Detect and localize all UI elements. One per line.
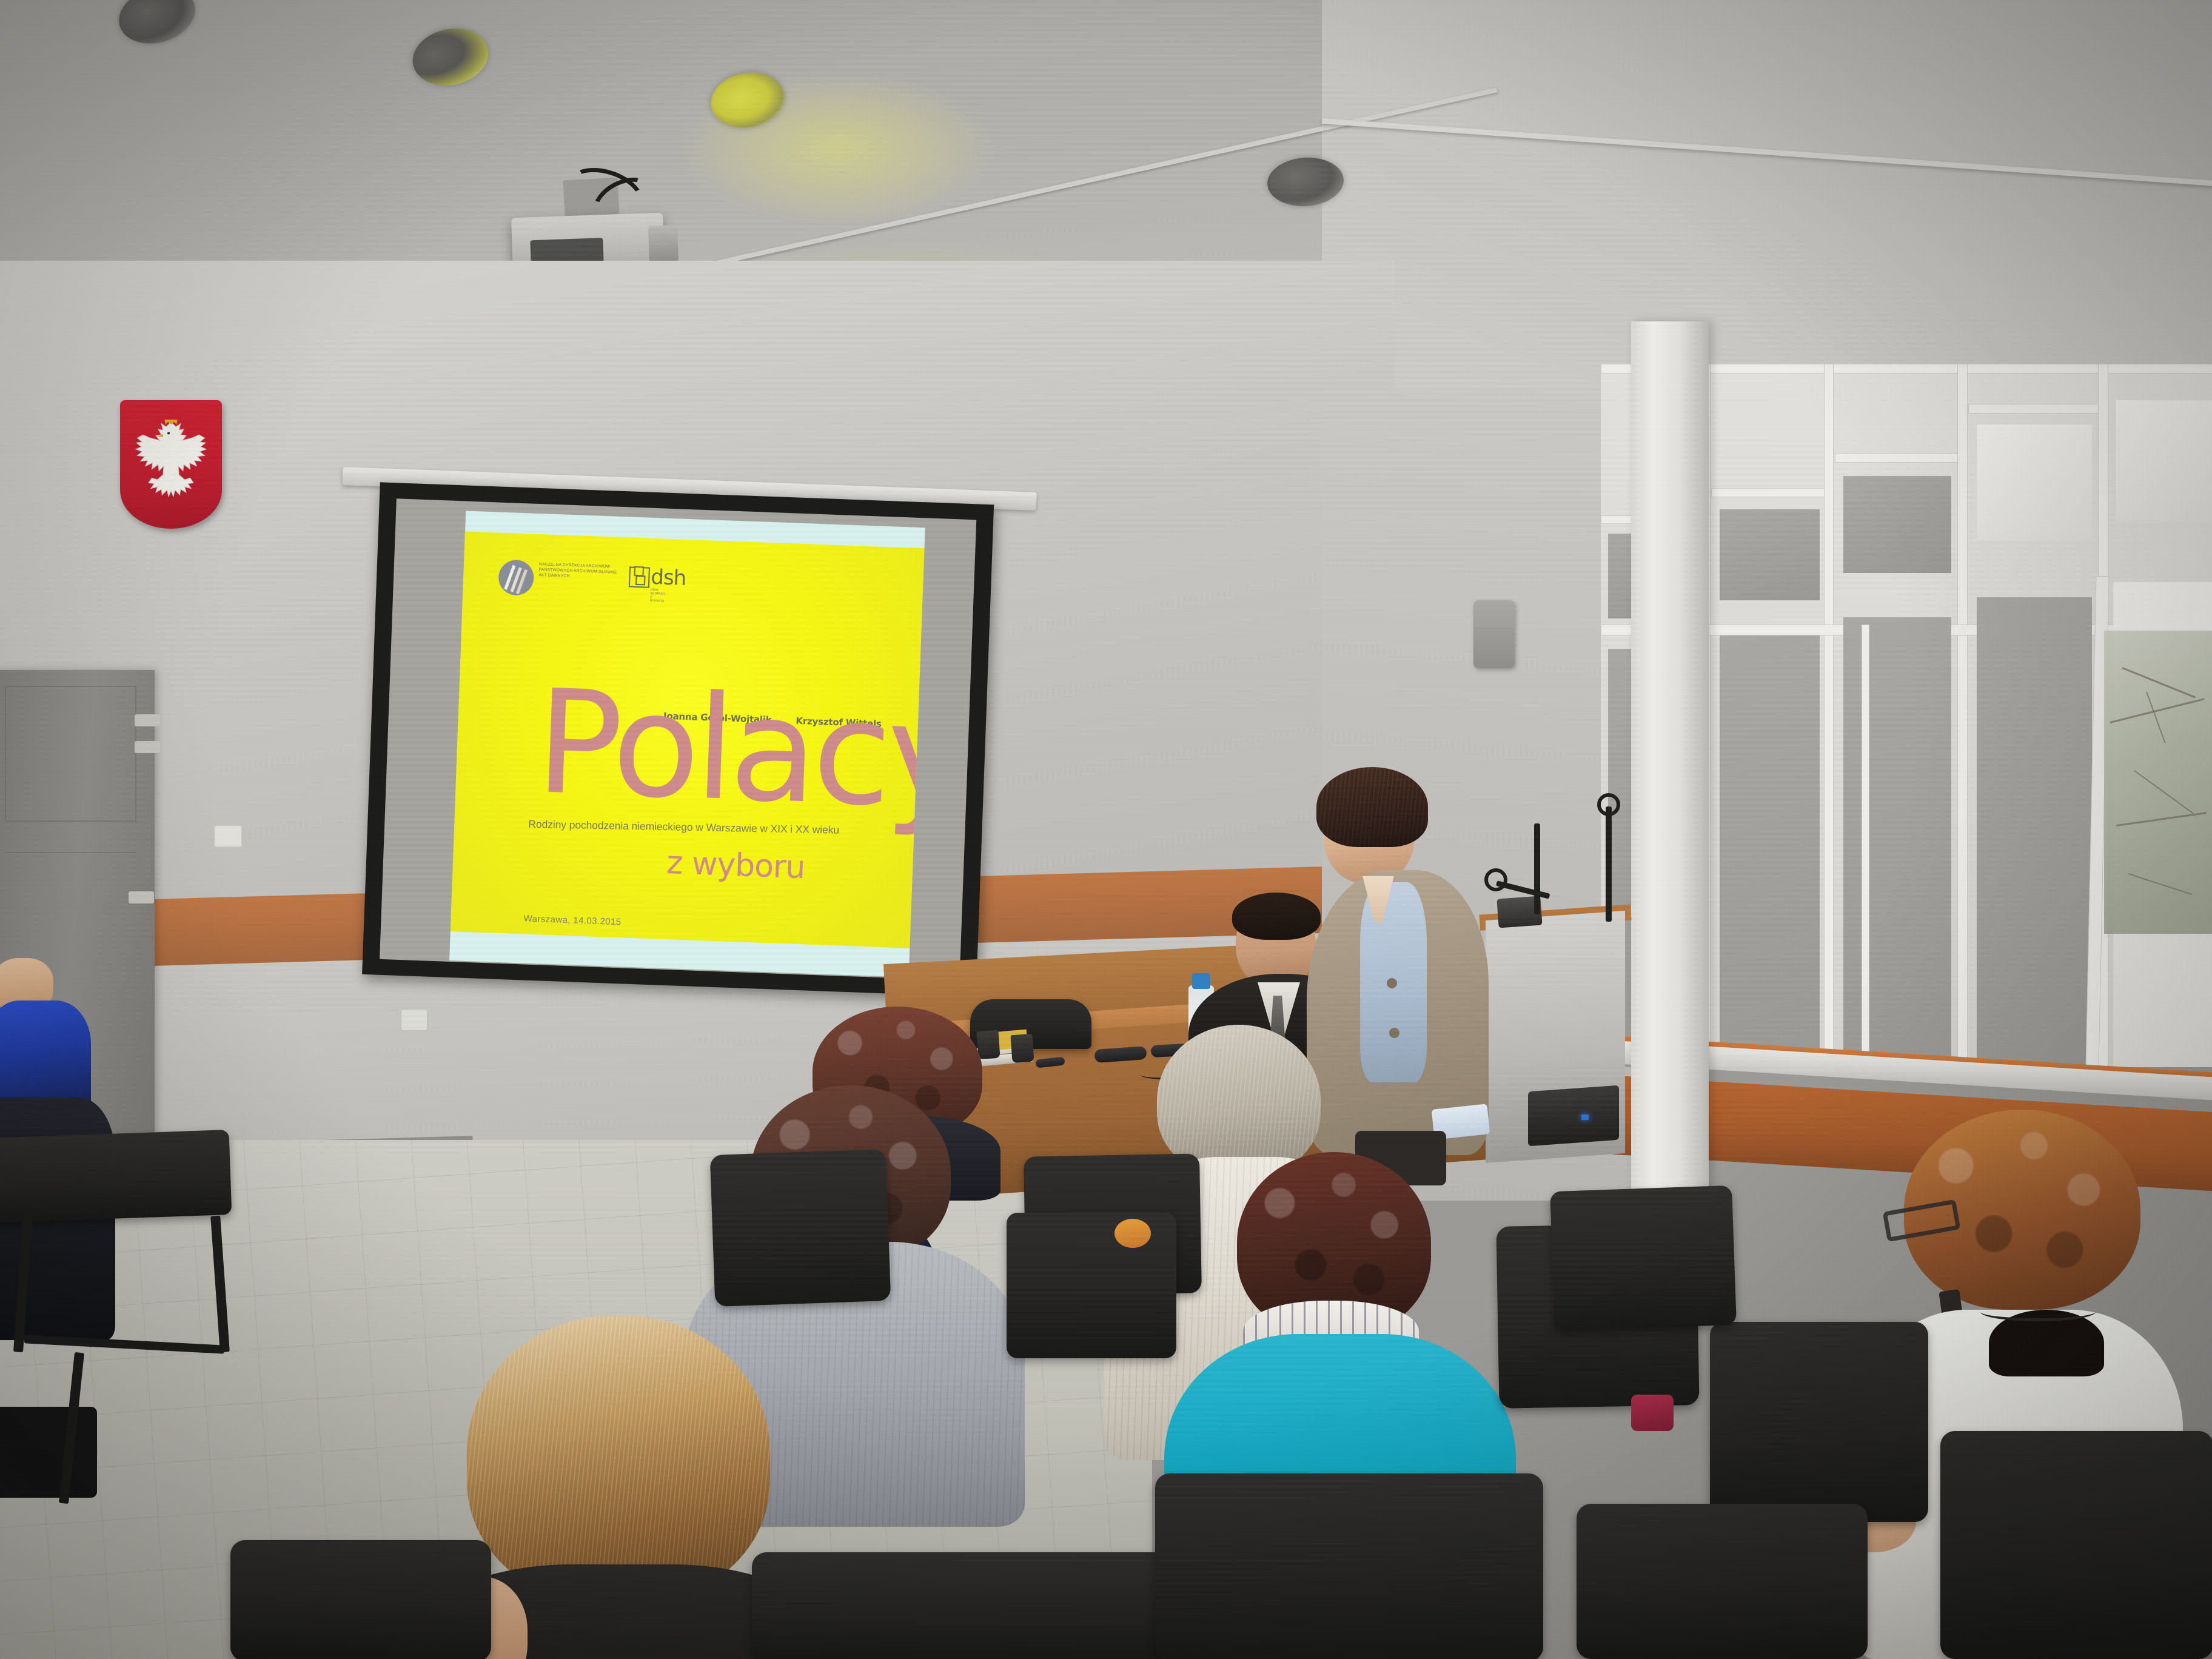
archive-institution-logo-icon [498, 560, 534, 596]
blazer-button [1389, 1028, 1399, 1038]
coffee-cup[interactable] [1010, 1034, 1034, 1063]
audience-chair[interactable] [1577, 1504, 1868, 1659]
slide-logo-row: NACZELNA DYREKCJA ARCHIWOW PANSTWOWYCH A… [498, 556, 754, 609]
microphone-stand-pole[interactable] [1606, 806, 1612, 922]
wall-speaker [1473, 600, 1515, 668]
door-hinge-icon [135, 714, 160, 726]
slide-title-line2: z wyboru [666, 845, 805, 886]
window-frame-rail [1711, 488, 1830, 497]
blonde-hair [467, 1316, 770, 1601]
polish-coat-of-arms [120, 400, 222, 529]
equipment-led [1581, 1114, 1589, 1120]
door-panel-upper [5, 686, 136, 822]
dsh-mark-icon [629, 566, 650, 588]
dsh-wordmark: dsh [651, 565, 686, 591]
projected-slide: NACZELNA DYREKCJA ARCHIWOW PANSTWOWYCH A… [449, 511, 925, 977]
projection-screen-surface: NACZELNA DYREKCJA ARCHIWOW PANSTWOWYCH A… [380, 498, 976, 980]
light-switch[interactable] [213, 825, 243, 848]
audience-chair[interactable] [752, 1552, 1176, 1659]
blazer-button [1387, 978, 1397, 988]
ceiling-right-section [1322, 0, 2212, 424]
tree-branches-outside [2104, 631, 2212, 934]
audience-chair[interactable] [1155, 1473, 1543, 1659]
audience-chair[interactable] [1940, 1431, 2212, 1659]
support-column [1631, 321, 1709, 1304]
dsh-subtitle: dom spotkan z historia [650, 588, 665, 603]
audience-chair[interactable] [1007, 1213, 1176, 1358]
conference-room-photo: NACZELNA DYREKCJA ARCHIWOW PANSTWOWYCH A… [0, 0, 2212, 1659]
door-hinge-icon [135, 741, 160, 753]
audience-chair[interactable] [230, 1540, 491, 1659]
window-frame-rail [1968, 404, 2103, 414]
audience-chair[interactable] [1550, 1185, 1737, 1331]
slide-title: Polacy [534, 672, 925, 828]
microphone-stand-pole[interactable] [1534, 823, 1540, 914]
audience-chair[interactable] [710, 1149, 891, 1307]
orange-fruit[interactable] [1114, 1219, 1151, 1248]
audience-chair[interactable] [1710, 1322, 1928, 1522]
window-transom-pane[interactable] [1843, 476, 1951, 573]
microphone-head-icon [1597, 793, 1620, 816]
window-transom-pane[interactable] [1720, 509, 1820, 600]
presenter-hair [1316, 767, 1428, 847]
archive-institution-name: NACZELNA DYREKCJA ARCHIWOW PANSTWOWYCH A… [538, 561, 618, 581]
window-main-pane[interactable] [1843, 617, 1951, 1067]
power-socket[interactable] [400, 1008, 428, 1031]
red-bag[interactable] [1631, 1395, 1674, 1431]
audience-chair[interactable] [0, 1130, 232, 1223]
window-mullion [1957, 364, 1968, 1067]
window-transom-pane[interactable] [2116, 400, 2212, 521]
window-mullion [1824, 364, 1834, 1067]
door-hinge-icon [129, 891, 154, 903]
window-transom-pane[interactable] [1977, 424, 2092, 540]
window-frame-rail [1835, 454, 1962, 463]
necklace-icon [1980, 1302, 2096, 1321]
window-sash-divider [1862, 625, 1869, 1067]
audience-member-blonde-bob [467, 1316, 782, 1659]
dark-legs [0, 1407, 97, 1498]
white-eagle-icon [131, 414, 211, 505]
projection-screen-frame: NACZELNA DYREKCJA ARCHIWOW PANSTWOWYCH A… [362, 482, 994, 997]
projector-lens [648, 225, 679, 263]
audio-equipment [1528, 1085, 1619, 1146]
window-main-pane[interactable] [1720, 635, 1820, 1067]
window-main-pane-open[interactable] [1977, 597, 2092, 1067]
